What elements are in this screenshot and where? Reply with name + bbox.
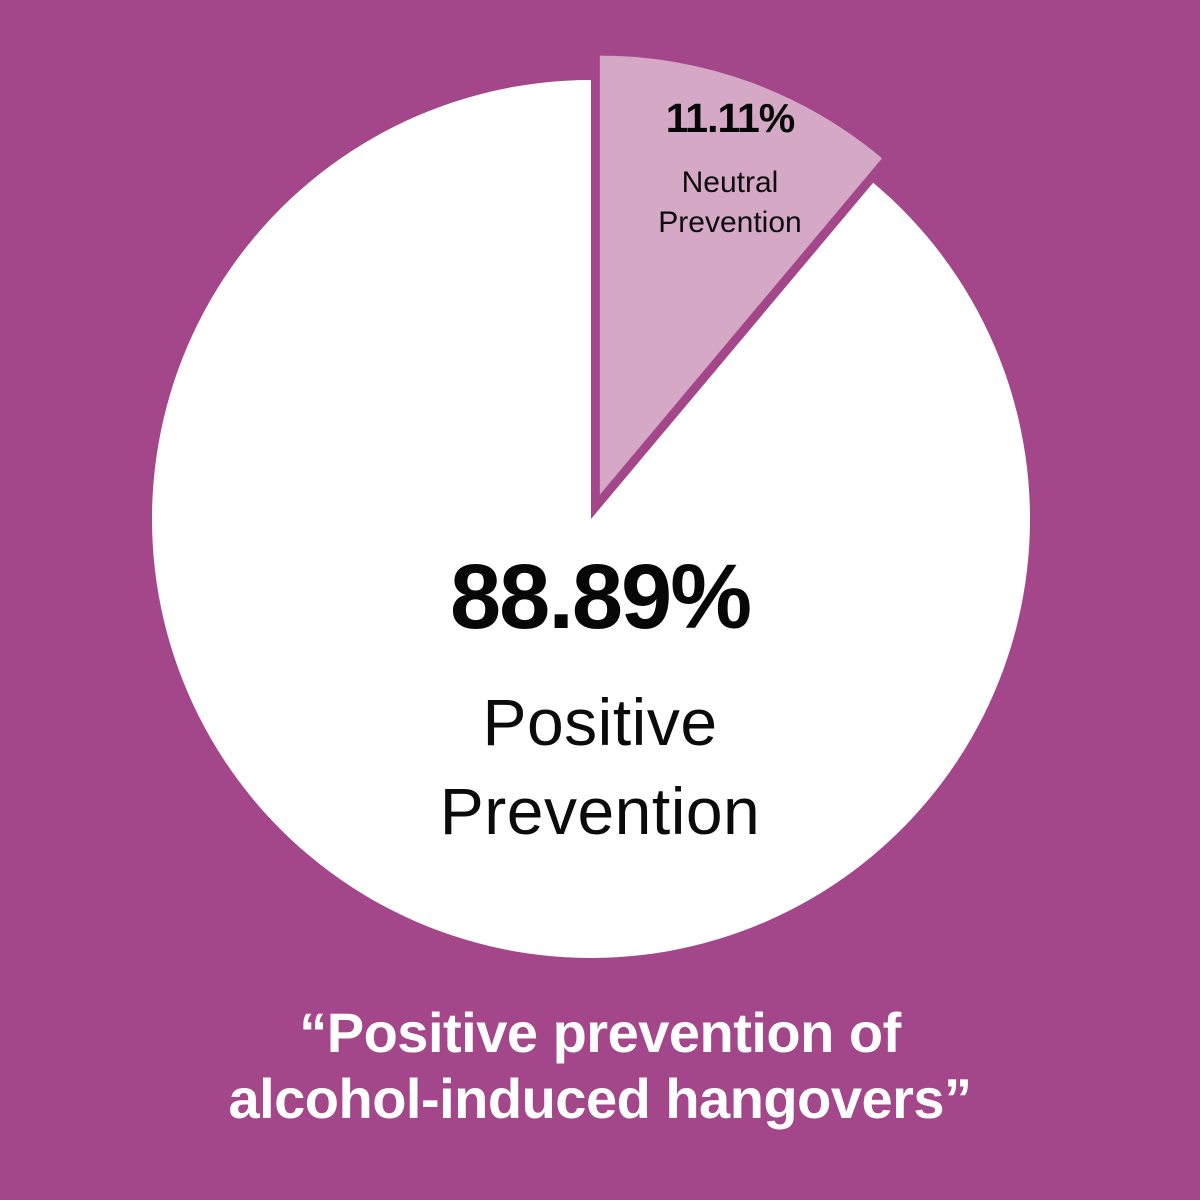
caption-block: “Positive prevention of alcohol-induced … [0,1000,1200,1132]
major-slice-label-line2: Prevention [0,767,1200,856]
minor-slice-percent: 11.11% [630,98,830,139]
minor-slice-label-line2: Prevention [620,203,840,243]
major-slice-label: Positive Prevention [0,678,1200,856]
major-slice-percent: 88.89% [0,551,1200,643]
major-slice-label-line1: Positive [0,678,1200,767]
caption-line-1: “Positive prevention of [0,1000,1200,1066]
minor-slice-label-line1: Neutral [620,163,840,203]
infographic-canvas: 88.89% Positive Prevention 11.11% Neutra… [0,0,1200,1200]
minor-slice-label: Neutral Prevention [620,163,840,243]
caption-line-2: alcohol-induced hangovers” [0,1066,1200,1132]
